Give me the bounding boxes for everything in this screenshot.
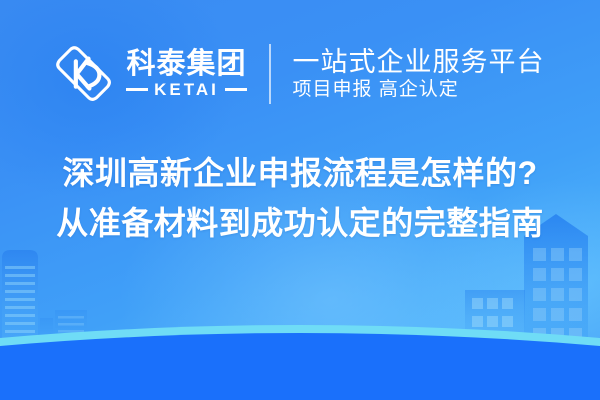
tagline-sub: 项目申报 高企认定 <box>293 80 545 100</box>
headline-line-2: 从准备材料到成功认定的完整指南 <box>0 198 600 248</box>
header-divider <box>269 44 271 104</box>
brand-name-en-row: KETAI <box>126 81 246 98</box>
brand-dash-left <box>126 88 148 91</box>
headline-line-1: 深圳高新企业申报流程是怎样的? <box>0 148 600 198</box>
wave-divider <box>0 310 600 400</box>
tagline-main: 一站式企业服务平台 <box>293 48 545 76</box>
brand-wordmark: 科泰集团 KETAI <box>126 50 246 98</box>
promo-banner: 科泰集团 KETAI 一站式企业服务平台 项目申报 高企认定 深圳高新企业申报流… <box>0 0 600 400</box>
brand-lockup: 科泰集团 KETAI <box>55 45 246 103</box>
brand-name-en: KETAI <box>154 81 219 98</box>
ketai-diamond-kd-logo-icon <box>55 45 113 103</box>
banner-header: 科泰集团 KETAI 一站式企业服务平台 项目申报 高企认定 <box>0 34 600 114</box>
brand-dash-right <box>225 88 247 91</box>
brand-name-cn: 科泰集团 <box>126 50 246 79</box>
headline-block: 深圳高新企业申报流程是怎样的? 从准备材料到成功认定的完整指南 <box>0 148 600 248</box>
tagline-block: 一站式企业服务平台 项目申报 高企认定 <box>293 48 545 100</box>
